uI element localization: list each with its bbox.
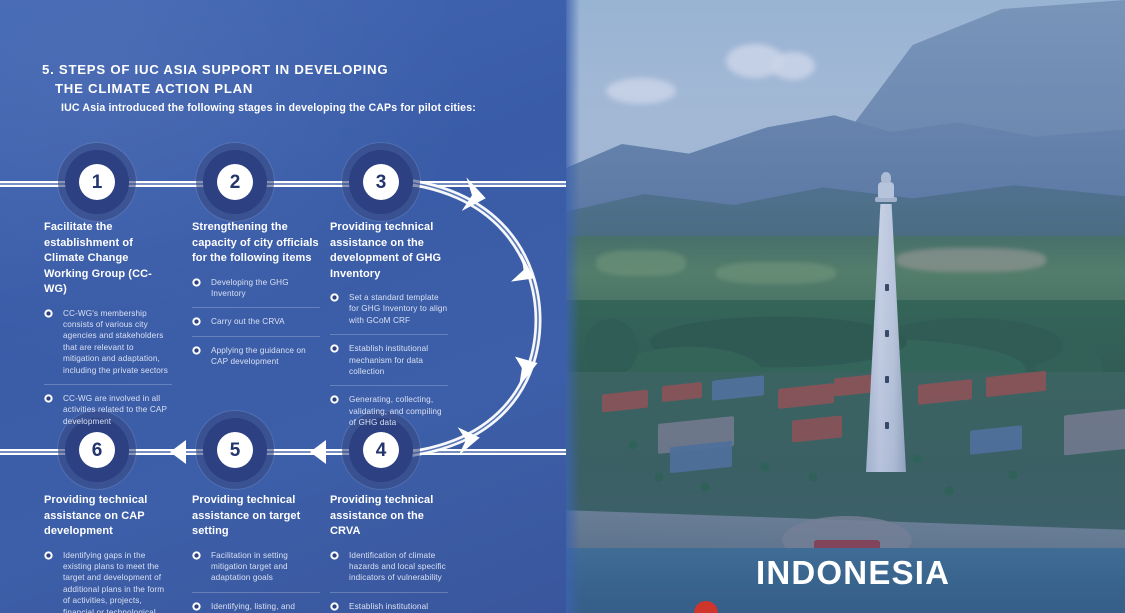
step-title: Providing technical assistance on the de…: [330, 220, 448, 282]
palm-tree: [626, 438, 640, 452]
bullet-text: Applying the guidance on CAP development: [211, 346, 306, 366]
page-subtitle: IUC Asia introduced the following stages…: [61, 102, 531, 114]
bullet-text: Identifying, listing, and determining th…: [211, 602, 308, 613]
step-column-2: Strengthening the capacity of city offic…: [192, 220, 320, 384]
page-title-line2: THE CLIMATE ACTION PLAN: [42, 79, 512, 98]
lighthouse-dome: [881, 172, 891, 183]
gear-bullet-icon: [192, 602, 201, 611]
step-column-6: Providing technical assistance on CAP de…: [44, 493, 172, 613]
arrow-left-icon: [170, 440, 186, 464]
cloud-shape: [771, 52, 815, 80]
step-bullet-list: CC-WG's membership consists of various c…: [44, 308, 172, 436]
step-bullet-list: Identifying gaps in the existing plans t…: [44, 550, 172, 613]
step-number: 5: [217, 432, 253, 468]
gear-bullet-icon: [330, 602, 339, 611]
lighthouse: [866, 172, 906, 472]
steps-panel: 5. STEPS OF IUC ASIA SUPPORT IN DEVELOPI…: [0, 0, 566, 613]
list-item: CC-WG's membership consists of various c…: [44, 308, 172, 385]
lighthouse-window: [885, 284, 889, 291]
palm-tree: [1006, 468, 1020, 482]
step-column-1: Facilitate the establishment of Climate …: [44, 220, 172, 443]
step-node-2[interactable]: 2: [203, 150, 267, 214]
step-bullet-list: Developing the GHG Inventory Carry out t…: [192, 277, 320, 376]
gear-bullet-icon: [44, 551, 53, 560]
bullet-text: Establish institutional mechanism for da…: [349, 344, 428, 376]
lighthouse-window: [885, 376, 889, 383]
list-item: Identifying gaps in the existing plans t…: [44, 550, 172, 613]
indonesia-photo: INDONESIA: [566, 0, 1125, 613]
roof-shape: [1064, 409, 1125, 456]
palm-tree: [806, 470, 820, 484]
gear-bullet-icon: [192, 346, 201, 355]
step-title: Providing technical assistance on CAP de…: [44, 493, 172, 540]
bullet-text: Identifying gaps in the existing plans t…: [63, 551, 164, 613]
infographic-page: 5. STEPS OF IUC ASIA SUPPORT IN DEVELOPI…: [0, 0, 1125, 613]
page-title: 5. STEPS OF IUC ASIA SUPPORT IN DEVELOPI…: [42, 60, 512, 98]
step-number: 3: [363, 164, 399, 200]
step-bullet-list: Facilitation in setting mitigation targe…: [192, 550, 320, 613]
gear-bullet-icon: [44, 394, 53, 403]
list-item: Developing the GHG Inventory: [192, 277, 320, 309]
field-patch: [896, 248, 1046, 272]
list-item: Set a standard template for GHG Inventor…: [330, 292, 448, 335]
step-column-5: Providing technical assistance on target…: [192, 493, 320, 613]
list-item: Applying the guidance on CAP development: [192, 345, 320, 376]
gear-bullet-icon: [330, 293, 339, 302]
page-title-line1: 5. STEPS OF IUC ASIA SUPPORT IN DEVELOPI…: [42, 62, 388, 77]
step-number: 2: [217, 164, 253, 200]
step-bullet-list: Set a standard template for GHG Inventor…: [330, 292, 448, 437]
gear-bullet-icon: [192, 278, 201, 287]
bullet-text: Carry out the CRVA: [211, 317, 285, 326]
gear-bullet-icon: [44, 309, 53, 318]
step-number: 1: [79, 164, 115, 200]
list-item: Identifying, listing, and determining th…: [192, 601, 320, 613]
palm-tree: [910, 452, 924, 466]
gear-bullet-icon: [330, 551, 339, 560]
field-patch: [596, 250, 686, 276]
arrow-left-icon: [310, 440, 326, 464]
list-item: CC-WG are involved in all activities rel…: [44, 393, 172, 435]
bullet-text: CC-WG's membership consists of various c…: [63, 309, 168, 375]
step-node-3[interactable]: 3: [349, 150, 413, 214]
bullet-text: Generating, collecting, validating, and …: [349, 395, 442, 427]
step-title: Providing technical assistance on the CR…: [330, 493, 448, 540]
field-patch: [716, 262, 836, 284]
bullet-text: Identification of climate hazards and lo…: [349, 551, 446, 583]
lighthouse-lamp: [878, 182, 894, 198]
cloud-shape: [606, 78, 676, 104]
step-node-1[interactable]: 1: [65, 150, 129, 214]
bullet-text: Developing the GHG Inventory: [211, 278, 289, 298]
list-item: Identification of climate hazards and lo…: [330, 550, 448, 593]
bullet-text: Facilitation in setting mitigation targe…: [211, 551, 288, 583]
step-title: Providing technical assistance on target…: [192, 493, 320, 540]
palm-tree: [758, 460, 772, 474]
step-column-3: Providing technical assistance on the de…: [330, 220, 448, 445]
bullet-text: Establish institutional mechanism for da…: [349, 602, 428, 613]
bullet-text: Set a standard template for GHG Inventor…: [349, 293, 447, 325]
lighthouse-body: [866, 204, 906, 472]
palm-tree: [652, 470, 666, 484]
list-item: Facilitation in setting mitigation targe…: [192, 550, 320, 593]
list-item: Carry out the CRVA: [192, 316, 320, 336]
palm-tree: [698, 480, 712, 494]
gear-bullet-icon: [192, 317, 201, 326]
title-block: 5. STEPS OF IUC ASIA SUPPORT IN DEVELOPI…: [42, 60, 512, 98]
lighthouse-window: [885, 422, 889, 429]
lighthouse-window: [885, 330, 889, 337]
bullet-text: CC-WG are involved in all activities rel…: [63, 394, 167, 426]
list-item: Establish institutional mechanism for da…: [330, 343, 448, 386]
step-title: Facilitate the establishment of Climate …: [44, 220, 172, 298]
gear-bullet-icon: [330, 395, 339, 404]
palm-tree: [942, 484, 956, 498]
step-title: Strengthening the capacity of city offic…: [192, 220, 320, 267]
list-item: Generating, collecting, validating, and …: [330, 394, 448, 436]
gear-bullet-icon: [192, 551, 201, 560]
country-label: INDONESIA: [756, 556, 950, 589]
gear-bullet-icon: [330, 344, 339, 353]
list-item: Establish institutional mechanism for da…: [330, 601, 448, 613]
step-bullet-list: Identification of climate hazards and lo…: [330, 550, 448, 613]
step-column-4: Providing technical assistance on the CR…: [330, 493, 448, 613]
step-node-5[interactable]: 5: [203, 418, 267, 482]
